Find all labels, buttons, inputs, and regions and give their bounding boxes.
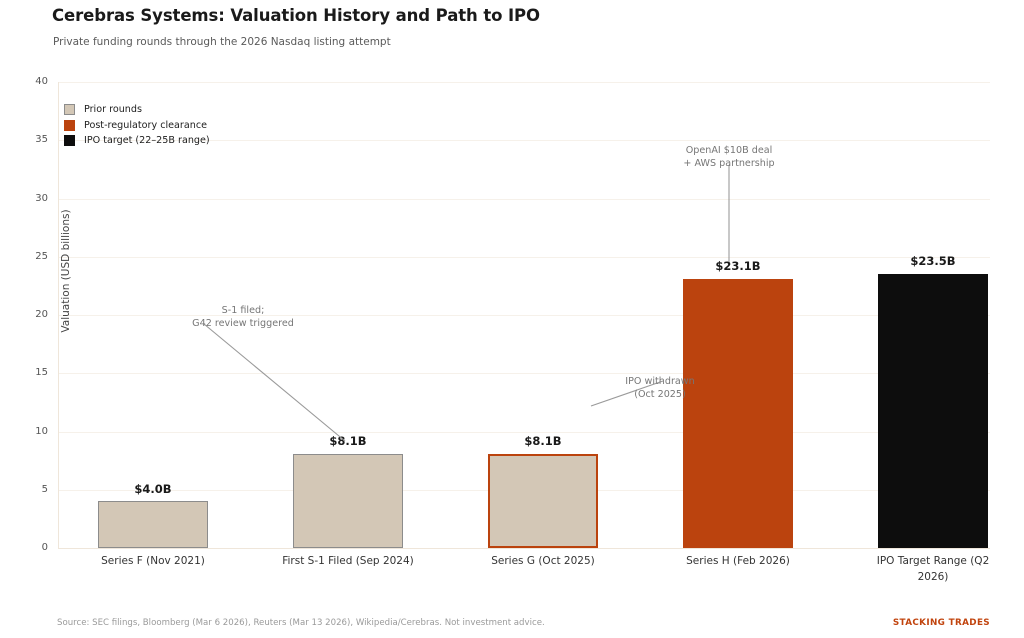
bar-series-h[interactable] bbox=[683, 279, 793, 548]
bar-value-series-g: $8.1B bbox=[488, 434, 598, 448]
bar-series-g[interactable] bbox=[488, 454, 598, 548]
gridline-30 bbox=[58, 199, 990, 200]
bar-first-s1[interactable] bbox=[293, 454, 403, 548]
gridline-10 bbox=[58, 432, 990, 433]
bar-ipo-target[interactable] bbox=[878, 274, 988, 548]
x-tick-first-s1: First S-1 Filed (Sep 2024) bbox=[278, 554, 418, 570]
gridline-15 bbox=[58, 373, 990, 374]
legend-swatch-post-regulatory bbox=[64, 120, 75, 131]
legend-item-post-regulatory[interactable]: Post-regulatory clearance bbox=[64, 118, 210, 133]
legend-label-prior-rounds: Prior rounds bbox=[84, 104, 142, 115]
y-tick-15: 15 bbox=[14, 367, 48, 378]
gridline-25 bbox=[58, 257, 990, 258]
y-tick-5: 5 bbox=[14, 484, 48, 495]
legend-item-ipo-target[interactable]: IPO target (22–25B range) bbox=[64, 133, 210, 148]
y-tick-20: 20 bbox=[14, 309, 48, 320]
y-tick-40: 40 bbox=[14, 76, 48, 87]
bar-value-series-h: $23.1B bbox=[683, 259, 793, 273]
legend-label-post-regulatory: Post-regulatory clearance bbox=[84, 120, 207, 131]
y-axis-spine bbox=[58, 82, 59, 548]
legend-item-prior-rounds[interactable]: Prior rounds bbox=[64, 102, 210, 117]
chart-subtitle: Private funding rounds through the 2026 … bbox=[53, 36, 391, 48]
y-tick-35: 35 bbox=[14, 134, 48, 145]
bar-value-ipo-target: $23.5B bbox=[878, 254, 988, 268]
chart-title: Cerebras Systems: Valuation History and … bbox=[52, 6, 540, 25]
x-tick-series-f: Series F (Nov 2021) bbox=[83, 554, 223, 570]
footer-brand-watermark: STACKING TRADES bbox=[893, 618, 990, 628]
annotation-openai-deal: OpenAI $10B deal + AWS partnership bbox=[644, 144, 814, 170]
y-axis-label: Valuation (USD billions) bbox=[60, 161, 72, 381]
legend-label-ipo-target: IPO target (22–25B range) bbox=[84, 135, 210, 146]
bar-value-first-s1: $8.1B bbox=[293, 434, 403, 448]
annotation-s1-filed: S-1 filed; G42 review triggered bbox=[148, 304, 338, 330]
bar-value-series-f: $4.0B bbox=[98, 482, 208, 496]
footer-source-note: Source: SEC filings, Bloomberg (Mar 6 20… bbox=[57, 618, 545, 628]
legend-swatch-prior-rounds bbox=[64, 104, 75, 115]
annotation-ipo-withdrawn: IPO withdrawn (Oct 2025) bbox=[575, 375, 745, 401]
x-tick-ipo-target: IPO Target Range (Q2 2026) bbox=[863, 554, 1003, 585]
chart-legend: Prior rounds Post-regulatory clearance I… bbox=[64, 102, 210, 149]
y-tick-10: 10 bbox=[14, 426, 48, 437]
x-tick-series-h: Series H (Feb 2026) bbox=[668, 554, 808, 570]
legend-swatch-ipo-target bbox=[64, 135, 75, 146]
y-tick-0: 0 bbox=[14, 542, 48, 553]
y-tick-25: 25 bbox=[14, 251, 48, 262]
gridline-40 bbox=[58, 82, 990, 83]
x-tick-series-g: Series G (Oct 2025) bbox=[473, 554, 613, 570]
chart-container: Cerebras Systems: Valuation History and … bbox=[0, 0, 1024, 638]
y-tick-30: 30 bbox=[14, 193, 48, 204]
x-axis-baseline bbox=[58, 548, 990, 549]
bar-series-f[interactable] bbox=[98, 501, 208, 548]
